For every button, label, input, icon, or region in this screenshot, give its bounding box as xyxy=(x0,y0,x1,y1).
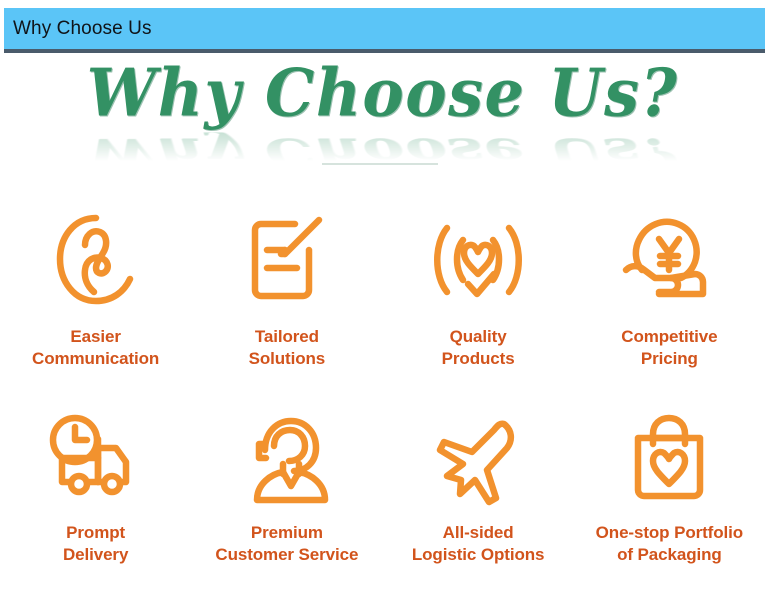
page-root: Why Choose Us Why Choose Us? Why Choose … xyxy=(0,0,765,599)
delivery-truck-clock-icon xyxy=(44,410,148,510)
airplane-icon xyxy=(426,410,530,510)
feature-label: Tailored Solutions xyxy=(249,326,326,370)
feature-row: Easier Communication Tailored Solutions xyxy=(0,196,765,396)
feature-label: One-stop Portfolio of Packaging xyxy=(596,522,743,566)
feature-cell-easier-communication[interactable]: Easier Communication xyxy=(0,196,191,396)
feature-label: Premium Customer Service xyxy=(215,522,358,566)
ear-listening-icon xyxy=(44,210,148,310)
window-header-bar: Why Choose Us xyxy=(4,8,765,53)
heart-soundwave-check-icon xyxy=(426,210,530,310)
feature-label: Quality Products xyxy=(442,326,515,370)
hero-divider xyxy=(322,163,438,165)
feature-label: All-sided Logistic Options xyxy=(412,522,545,566)
hero-title-wrap: Why Choose Us? Why Choose Us? xyxy=(0,60,765,146)
hero-section: Why Choose Us? Why Choose Us? xyxy=(0,60,765,172)
feature-cell-competitive-pricing[interactable]: Competitive Pricing xyxy=(574,196,765,396)
page-title: Why Choose Us xyxy=(4,19,152,38)
feature-cell-quality-products[interactable]: Quality Products xyxy=(383,196,574,396)
hero-script-title: Why Choose Us? xyxy=(87,58,679,127)
feature-label: Competitive Pricing xyxy=(621,326,717,370)
feature-row: Prompt Delivery Premium Customer Service xyxy=(0,396,765,596)
feature-label: Easier Communication xyxy=(32,326,159,370)
feature-label: Prompt Delivery xyxy=(63,522,128,566)
feature-grid: Easier Communication Tailored Solutions xyxy=(0,196,765,596)
document-pencil-icon xyxy=(235,210,339,310)
shopping-bag-heart-icon xyxy=(617,410,721,510)
feature-cell-prompt-delivery[interactable]: Prompt Delivery xyxy=(0,396,191,596)
feature-cell-all-sided-logistic-options[interactable]: All-sided Logistic Options xyxy=(383,396,574,596)
hand-holding-yen-coin-icon xyxy=(617,210,721,310)
feature-cell-one-stop-portfolio-of-packaging[interactable]: One-stop Portfolio of Packaging xyxy=(574,396,765,596)
feature-cell-tailored-solutions[interactable]: Tailored Solutions xyxy=(191,196,382,396)
headset-agent-icon xyxy=(235,410,339,510)
hero-script-title-mirror: Why Choose Us? xyxy=(87,132,679,172)
feature-cell-premium-customer-service[interactable]: Premium Customer Service xyxy=(191,396,382,596)
